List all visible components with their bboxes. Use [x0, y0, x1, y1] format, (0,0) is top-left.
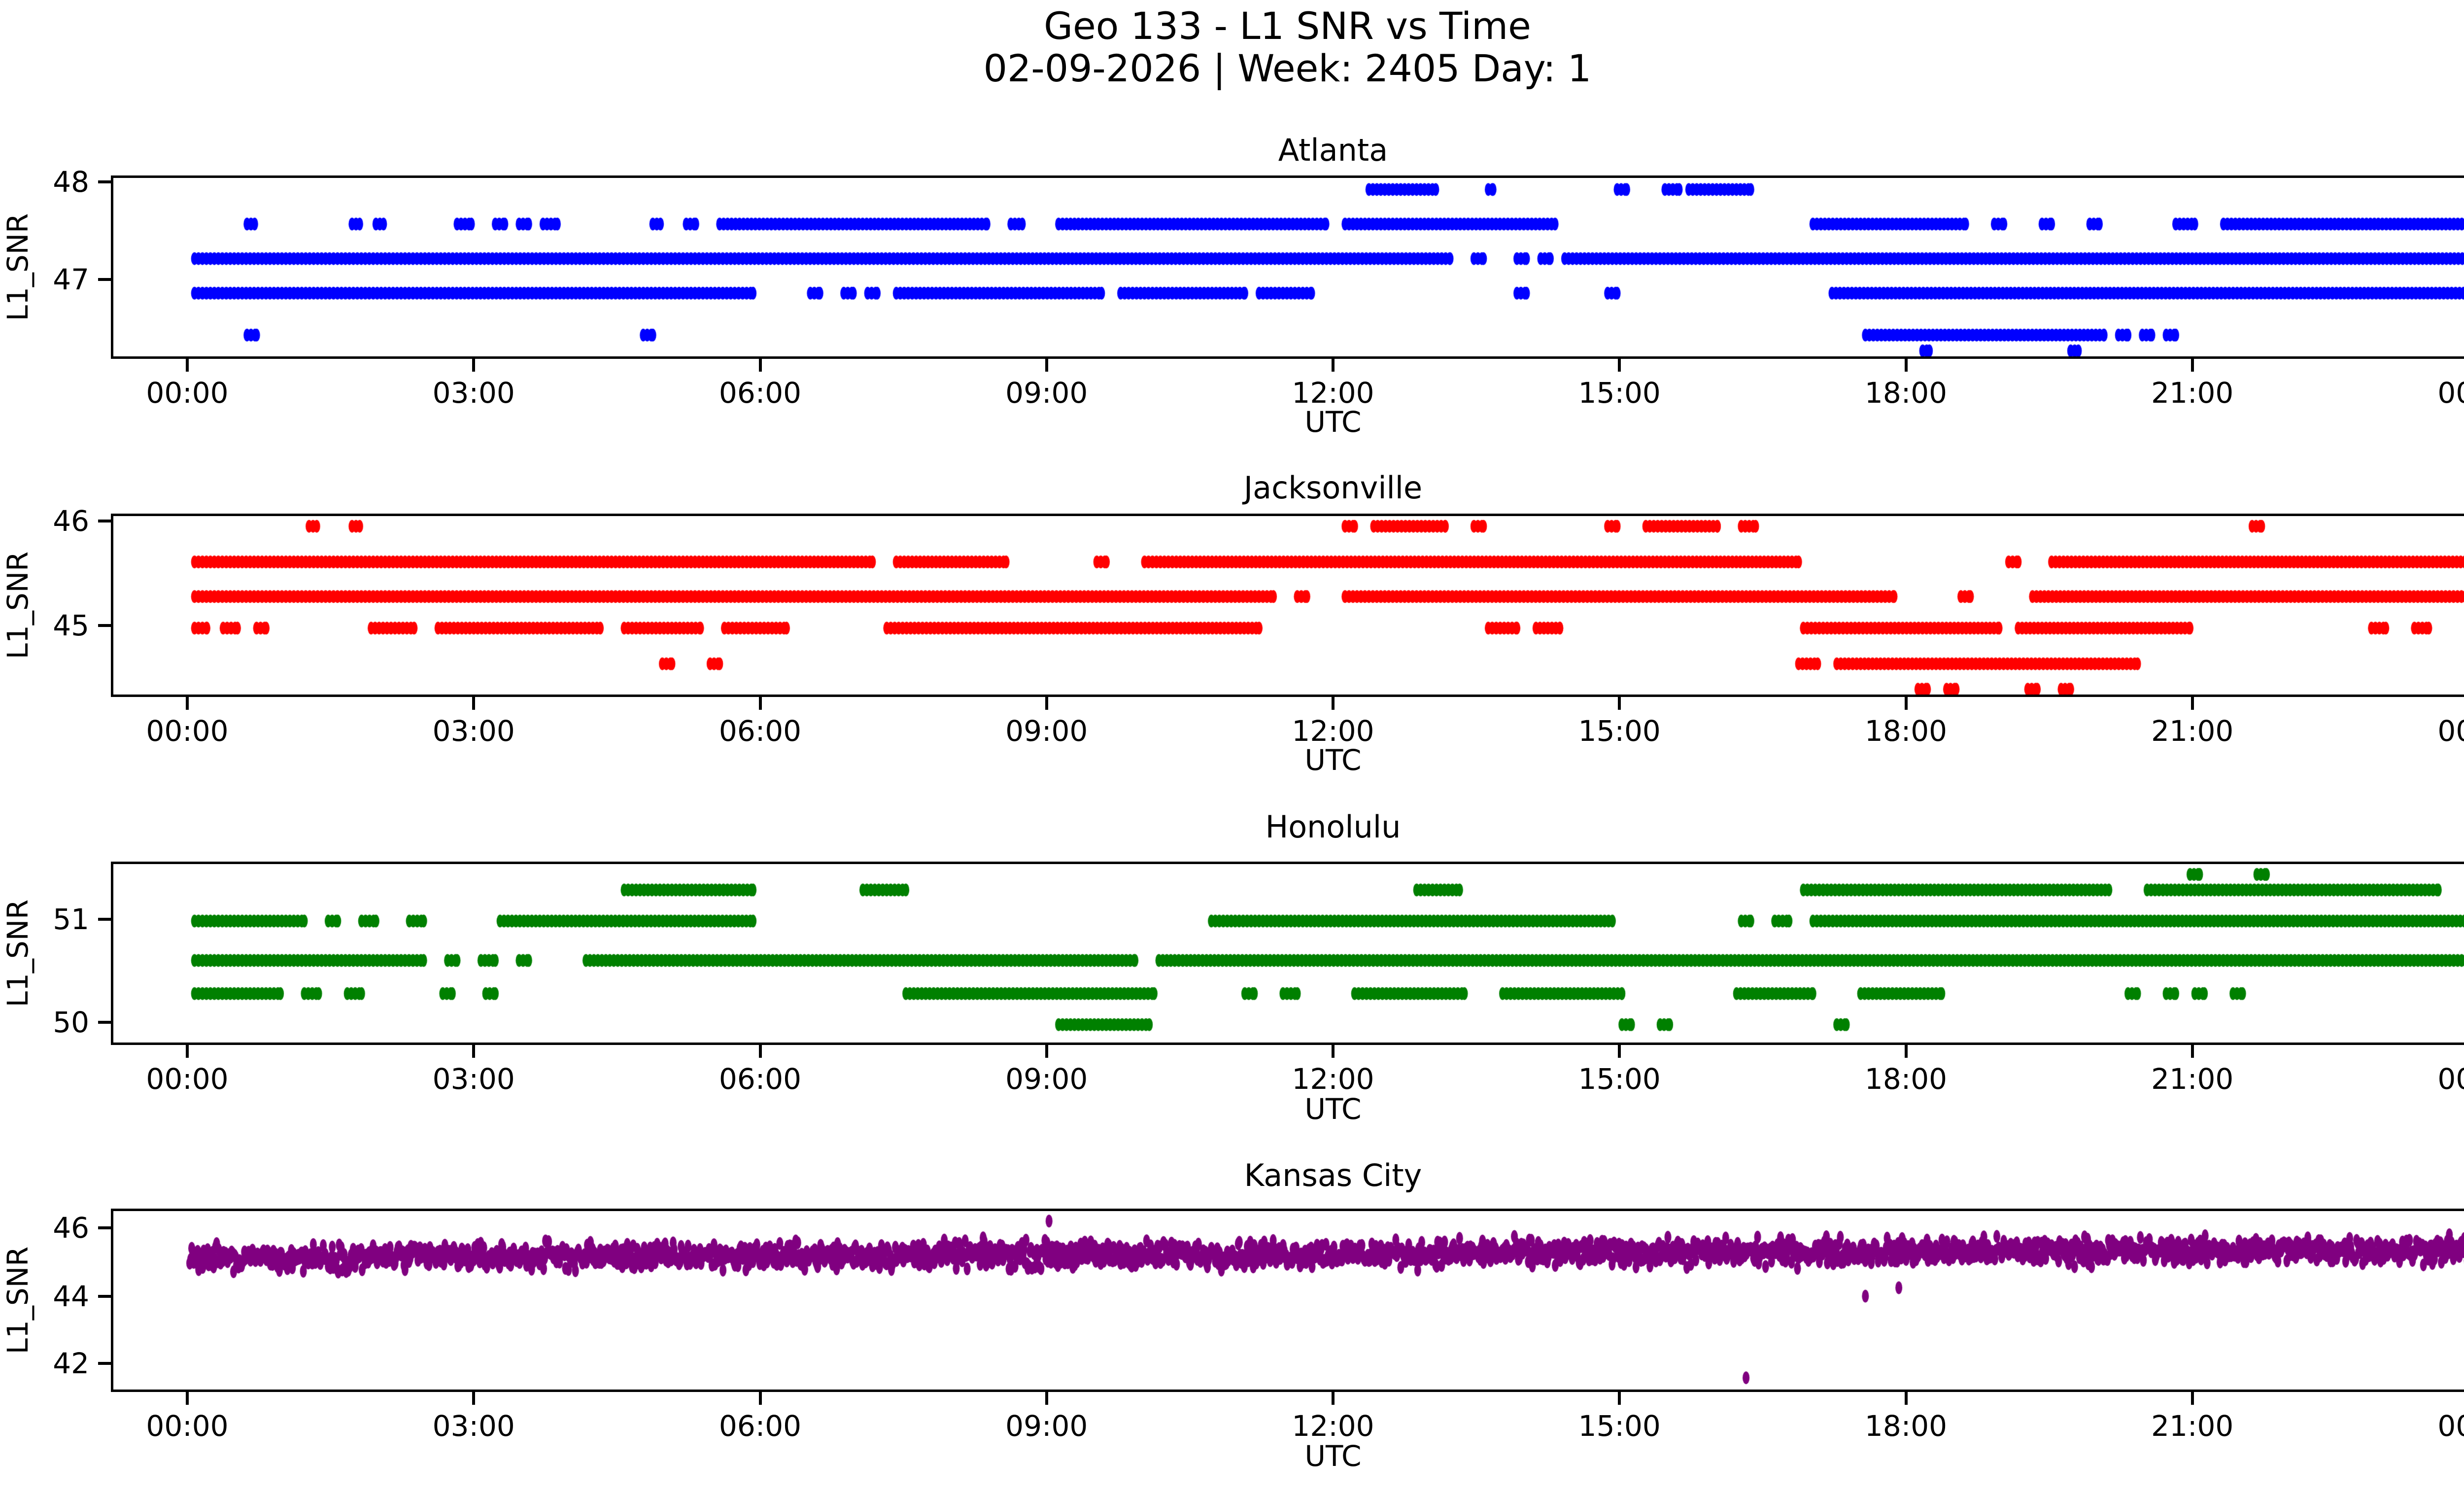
plot-area-honolulu [111, 862, 2464, 1045]
x-tick-label: 00:00 [108, 376, 266, 410]
x-tick-mark [1618, 359, 1621, 372]
x-tick-label: 21:00 [2114, 1062, 2271, 1096]
plot-area-atlanta [111, 175, 2464, 359]
x-tick-mark [759, 697, 762, 710]
suptitle-line-1: Geo 133 - L1 SNR vs Time [1044, 4, 1531, 48]
y-tick-mark [98, 624, 111, 627]
x-tick-label: 06:00 [682, 376, 839, 410]
x-tick-label: 21:00 [2114, 1409, 2271, 1443]
x-tick-mark [1905, 697, 1908, 710]
x-tick-label: 00:00 [2400, 376, 2464, 410]
x-tick-label: 06:00 [682, 714, 839, 748]
y-tick-mark [98, 520, 111, 522]
subplot-title-jacksonville: Jacksonville [111, 472, 2464, 504]
figure-suptitle: Geo 133 - L1 SNR vs Time 02-09-2026 | We… [0, 5, 2464, 90]
x-tick-mark [2191, 359, 2194, 372]
x-axis-label-kansas-city: UTC [111, 1440, 2464, 1472]
x-tick-mark [759, 359, 762, 372]
x-tick-mark [1905, 359, 1908, 372]
scatter-layer-kansas-city [113, 1211, 2464, 1392]
x-tick-mark [1618, 1045, 1621, 1058]
y-tick-label: 45 [53, 607, 89, 644]
x-tick-label: 00:00 [108, 714, 266, 748]
x-tick-label: 06:00 [682, 1409, 839, 1443]
x-tick-label: 18:00 [1827, 1409, 1985, 1443]
scatter-layer-jacksonville [113, 516, 2464, 697]
x-tick-label: 15:00 [1540, 1062, 1698, 1096]
x-tick-label: 00:00 [2400, 1409, 2464, 1443]
x-tick-label: 00:00 [108, 1409, 266, 1443]
subplot-title-honolulu: Honolulu [111, 811, 2464, 843]
x-tick-label: 03:00 [395, 1062, 552, 1096]
x-tick-mark [472, 697, 475, 710]
subplot-title-atlanta: Atlanta [111, 134, 2464, 167]
y-axis-label-honolulu: L1_SNR [3, 862, 33, 1045]
x-tick-label: 09:00 [968, 714, 1126, 748]
y-tick-mark [98, 1021, 111, 1024]
x-tick-label: 18:00 [1827, 376, 1985, 410]
x-tick-label: 09:00 [968, 1062, 1126, 1096]
x-tick-label: 09:00 [968, 1409, 1126, 1443]
x-tick-mark [186, 359, 189, 372]
x-tick-label: 12:00 [1254, 1409, 1412, 1443]
x-tick-mark [759, 1045, 762, 1058]
x-axis-label-honolulu: UTC [111, 1093, 2464, 1125]
x-tick-mark [1045, 1045, 1048, 1058]
y-tick-label: 50 [53, 1004, 89, 1041]
y-tick-mark [98, 278, 111, 281]
x-tick-mark [186, 697, 189, 710]
y-axis-label-jacksonville: L1_SNR [3, 514, 33, 697]
y-tick-label: 46 [53, 502, 89, 540]
y-tick-label: 48 [53, 163, 89, 201]
x-tick-label: 09:00 [968, 376, 1126, 410]
plot-area-jacksonville [111, 514, 2464, 697]
y-tick-mark [98, 1226, 111, 1229]
x-tick-label: 03:00 [395, 714, 552, 748]
y-tick-mark [98, 918, 111, 921]
y-tick-label: 44 [53, 1278, 89, 1315]
x-axis-label-atlanta: UTC [111, 406, 2464, 438]
plot-area-kansas-city [111, 1209, 2464, 1392]
x-tick-label: 00:00 [108, 1062, 266, 1096]
x-tick-mark [1045, 1392, 1048, 1405]
suptitle-line-2: 02-09-2026 | Week: 2405 Day: 1 [0, 47, 2464, 90]
x-tick-mark [2191, 1045, 2194, 1058]
y-tick-label: 47 [53, 261, 89, 298]
y-axis-label-kansas-city: L1_SNR [3, 1209, 33, 1392]
y-tick-label: 51 [53, 901, 89, 938]
x-tick-label: 06:00 [682, 1062, 839, 1096]
x-tick-mark [759, 1392, 762, 1405]
y-tick-label: 46 [53, 1209, 89, 1247]
x-tick-mark [1332, 1392, 1335, 1405]
x-tick-mark [472, 359, 475, 372]
x-tick-label: 03:00 [395, 1409, 552, 1443]
x-tick-label: 12:00 [1254, 1062, 1412, 1096]
x-tick-mark [2191, 1392, 2194, 1405]
x-tick-label: 21:00 [2114, 714, 2271, 748]
y-tick-mark [98, 1295, 111, 1298]
x-tick-label: 03:00 [395, 376, 552, 410]
x-tick-label: 00:00 [2400, 1062, 2464, 1096]
x-tick-label: 15:00 [1540, 1409, 1698, 1443]
x-tick-label: 15:00 [1540, 714, 1698, 748]
x-tick-mark [1045, 697, 1048, 710]
y-tick-label: 42 [53, 1345, 89, 1382]
x-tick-mark [1618, 697, 1621, 710]
x-tick-mark [1332, 359, 1335, 372]
x-tick-mark [186, 1045, 189, 1058]
x-tick-mark [1045, 359, 1048, 372]
x-tick-label: 18:00 [1827, 714, 1985, 748]
x-tick-mark [1332, 697, 1335, 710]
subplot-title-kansas-city: Kansas City [111, 1159, 2464, 1192]
x-tick-label: 00:00 [2400, 714, 2464, 748]
x-tick-mark [1332, 1045, 1335, 1058]
x-tick-mark [2191, 697, 2194, 710]
figure-canvas: Geo 133 - L1 SNR vs Time 02-09-2026 | We… [0, 0, 2464, 1495]
x-tick-label: 15:00 [1540, 376, 1698, 410]
x-tick-mark [1905, 1045, 1908, 1058]
x-tick-label: 21:00 [2114, 376, 2271, 410]
x-tick-mark [186, 1392, 189, 1405]
scatter-layer-atlanta [113, 178, 2464, 359]
scatter-layer-honolulu [113, 864, 2464, 1045]
x-axis-label-jacksonville: UTC [111, 744, 2464, 776]
x-tick-mark [472, 1045, 475, 1058]
y-tick-mark [98, 1362, 111, 1365]
x-tick-mark [1618, 1392, 1621, 1405]
x-tick-mark [472, 1392, 475, 1405]
y-tick-mark [98, 180, 111, 183]
x-tick-label: 18:00 [1827, 1062, 1985, 1096]
y-axis-label-atlanta: L1_SNR [3, 175, 33, 359]
x-tick-mark [1905, 1392, 1908, 1405]
